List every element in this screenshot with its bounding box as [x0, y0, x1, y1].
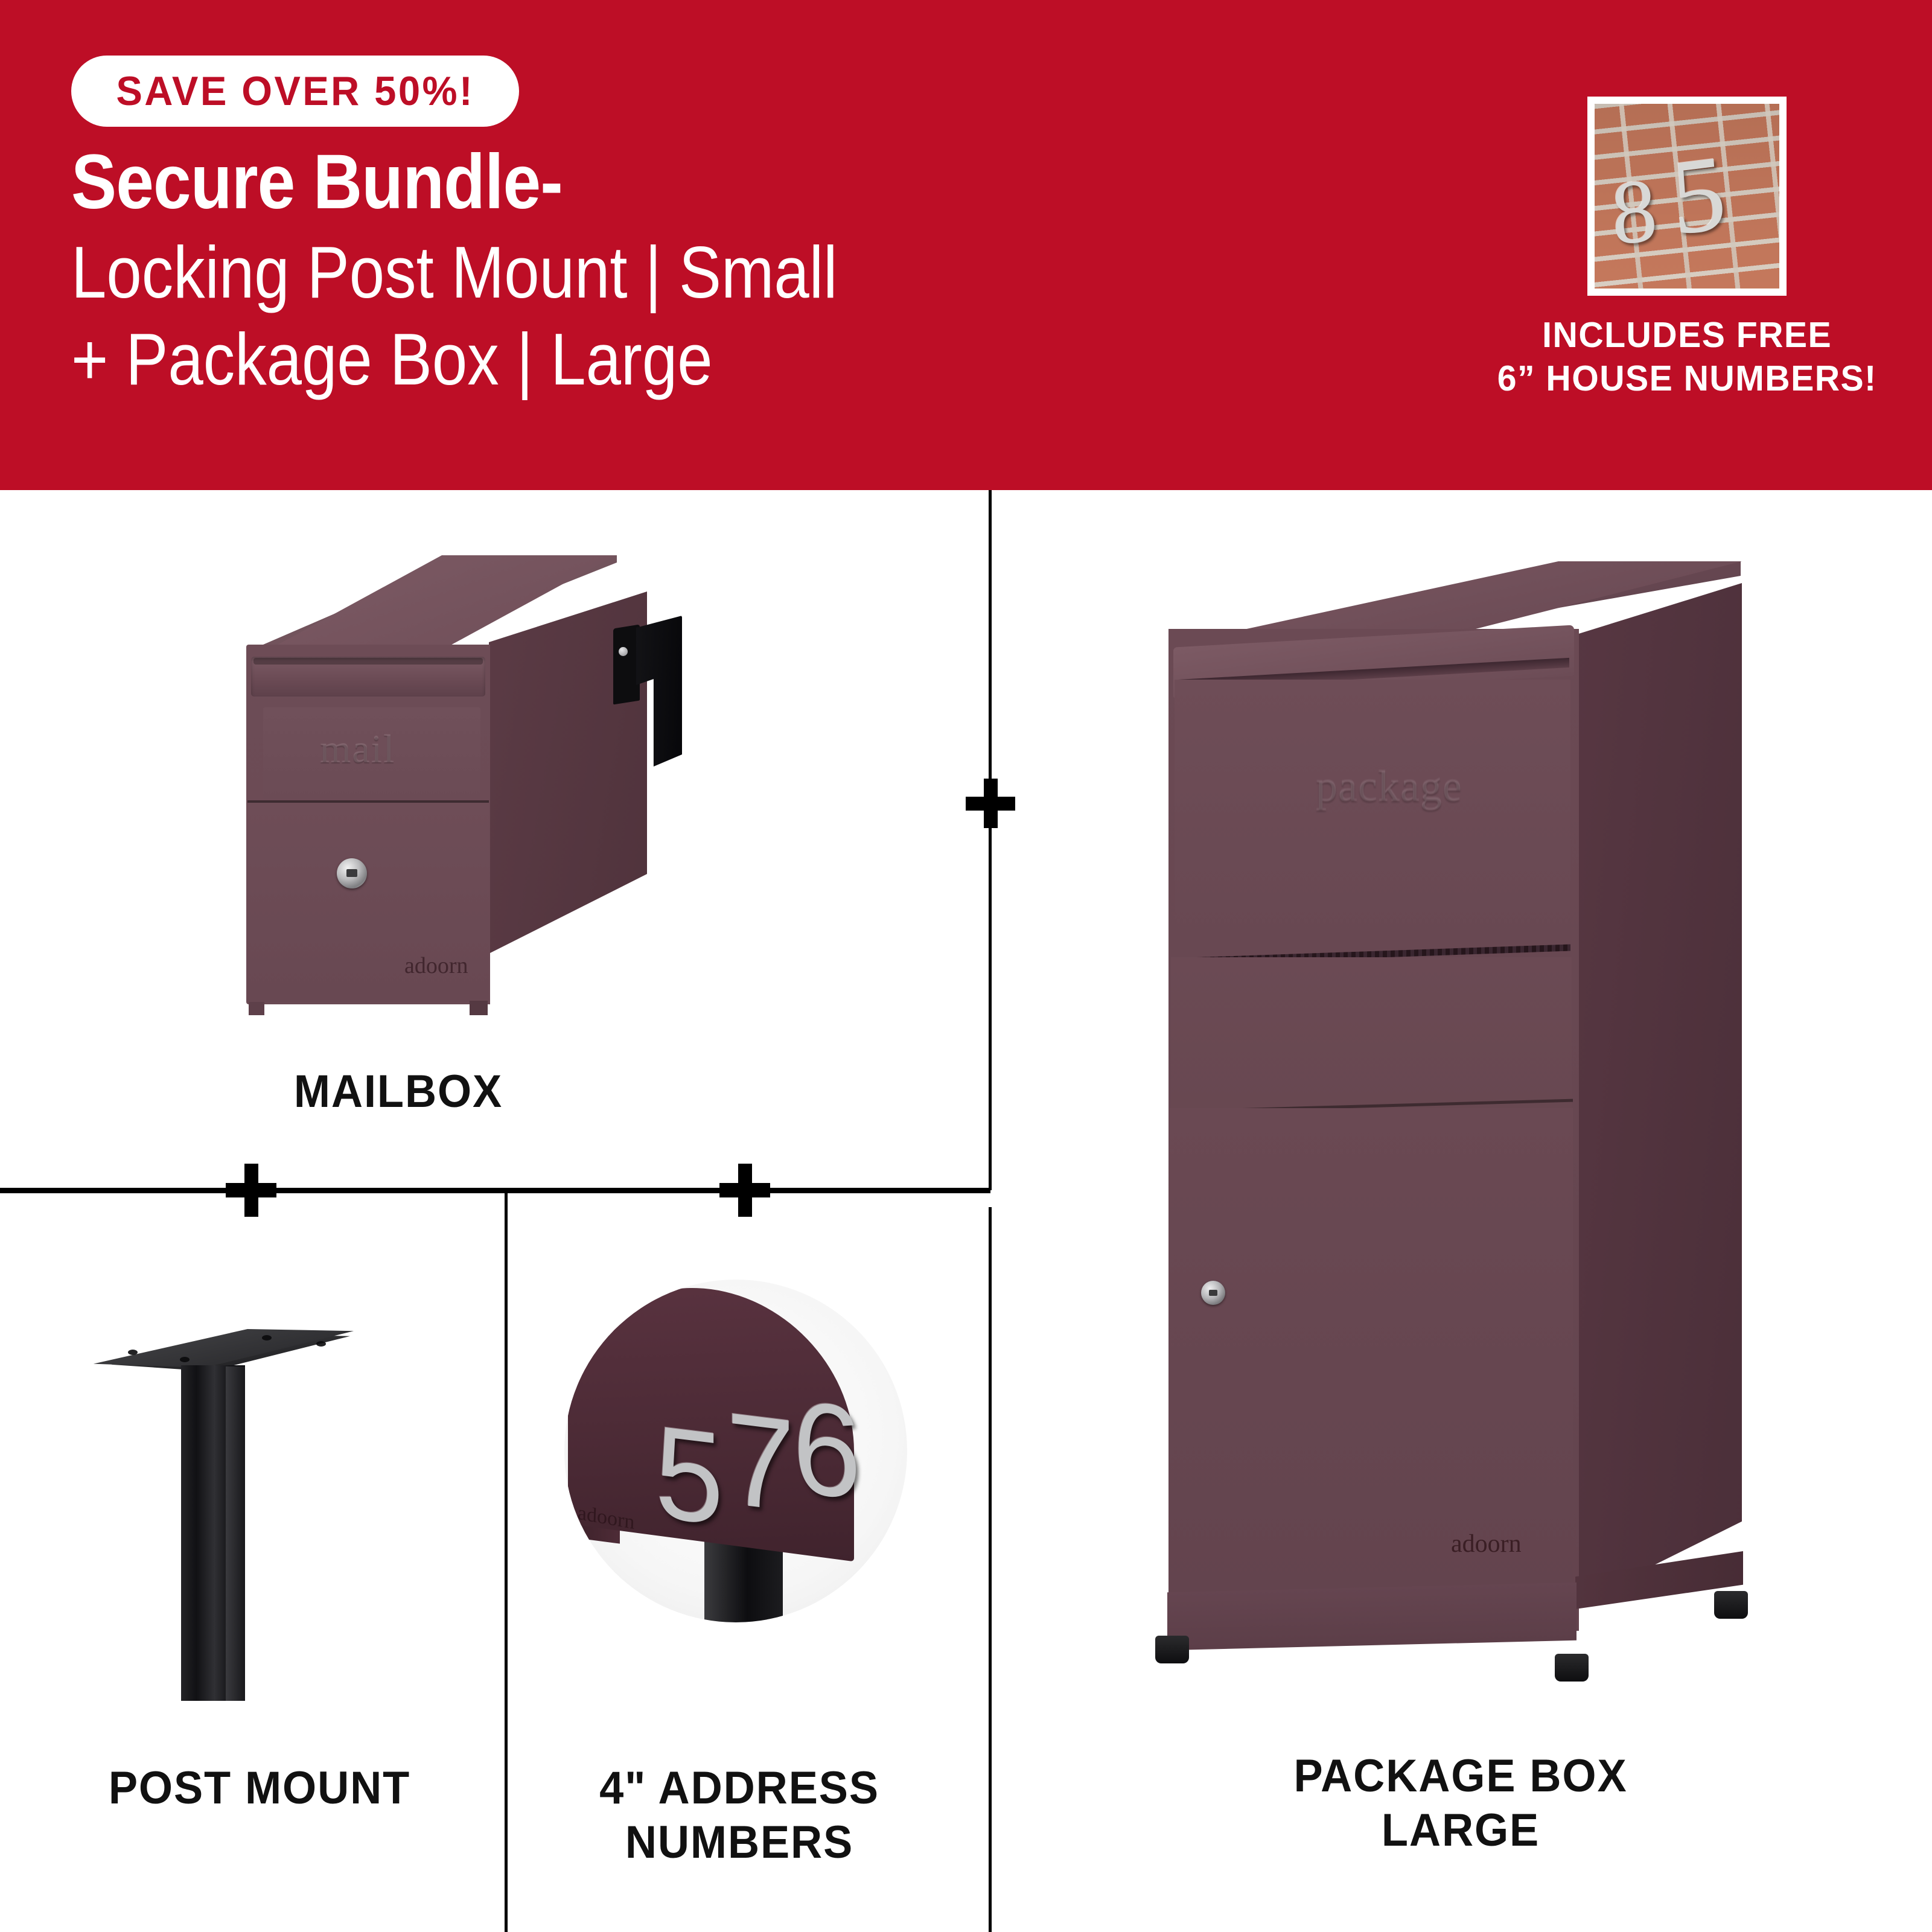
- post-mount-mounting-plate: [88, 1329, 354, 1368]
- house-number-digit: 5: [1668, 138, 1729, 252]
- product-label-line-2: LARGE: [1048, 1803, 1873, 1858]
- package-box-base-front: [1167, 1583, 1577, 1651]
- lock-icon: [1201, 1281, 1225, 1305]
- title-line-tertiary: + Package Box | Large: [71, 316, 1141, 403]
- promo-caption: INCLUDES FREE 6” HOUSE NUMBERS!: [1491, 314, 1883, 401]
- product-label-line-1: PACKAGE BOX: [1048, 1749, 1873, 1803]
- product-label-package-box: PACKAGE BOX LARGE: [1048, 1749, 1873, 1857]
- package-box-mid-panel: [1171, 957, 1572, 1108]
- mailbox-product-image: mail adoorn: [229, 555, 730, 1032]
- product-label-line-2: NUMBERS: [521, 1816, 957, 1870]
- promo-caption-line-2: 6” HOUSE NUMBERS!: [1497, 357, 1877, 401]
- house-number-photo-frame: 8 5: [1587, 97, 1787, 296]
- plus-icon: [719, 1164, 770, 1217]
- mailbox-foot: [470, 1001, 488, 1015]
- promo-header-banner: SAVE OVER 50%! Secure Bundle- Locking Po…: [0, 0, 1932, 490]
- screw-icon: [619, 647, 628, 656]
- bolt-hole-icon: [262, 1335, 272, 1341]
- lock-icon: [337, 858, 367, 888]
- bolt-hole-icon: [128, 1350, 138, 1355]
- address-numbers-product-image: 5 7 6 adoorn: [564, 1280, 914, 1630]
- post-mount-product-image: [91, 1316, 429, 1702]
- package-box-main-door: [1170, 1108, 1573, 1591]
- bolt-hole-icon: [316, 1341, 326, 1347]
- product-label-mailbox: MAILBOX: [180, 1065, 616, 1119]
- package-box-foot: [1555, 1654, 1589, 1682]
- divider-vertical-main-lower: [989, 1207, 992, 1932]
- package-box-upper-panel: [1175, 680, 1570, 951]
- bolt-hole-icon: [180, 1357, 190, 1362]
- plus-icon-bar-vertical: [738, 1164, 752, 1217]
- address-digit: 5: [655, 1406, 724, 1545]
- title-line-primary: Secure Bundle-: [71, 144, 1165, 221]
- save-badge-label: SAVE OVER 50%!: [116, 68, 474, 115]
- save-discount-badge: SAVE OVER 50%!: [71, 56, 519, 127]
- brick-wall-photo: 8 5: [1595, 104, 1779, 289]
- plus-icon: [226, 1164, 276, 1217]
- plus-icon-bar-vertical: [984, 779, 998, 828]
- package-box-side-panel: [1578, 583, 1742, 1603]
- mailbox-mail-slot-opening: [253, 658, 483, 665]
- divider-horizontal-segment: [759, 1188, 990, 1193]
- brand-logo: adoorn: [404, 952, 519, 979]
- divider-horizontal-segment: [0, 1188, 235, 1193]
- brand-logo: adoorn: [1451, 1529, 1572, 1558]
- package-box-foot: [1155, 1636, 1189, 1663]
- address-digit: 6: [792, 1380, 861, 1520]
- promo-caption-line-1: INCLUDES FREE: [1497, 314, 1877, 357]
- free-house-numbers-promo: 8 5 INCLUDES FREE 6” HOUSE NUMBERS!: [1506, 97, 1868, 401]
- title-line-secondary: Locking Post Mount | Small: [71, 229, 1141, 316]
- plus-icon: [966, 779, 1015, 828]
- page-title: Secure Bundle- Locking Post Mount | Smal…: [71, 144, 1315, 403]
- product-label-post-mount: POST MOUNT: [48, 1761, 472, 1816]
- divider-horizontal-segment: [266, 1188, 732, 1193]
- package-box-product-image: package adoorn: [1123, 561, 1793, 1708]
- house-number-digit: 8: [1608, 164, 1660, 260]
- mailbox-embossed-label: mail: [320, 725, 477, 774]
- address-numbers-circle-inset: 5 7 6 adoorn: [564, 1280, 907, 1622]
- package-box-embossed-label: package: [1316, 760, 1557, 812]
- product-label-line-1: 4" ADDRESS: [521, 1761, 957, 1816]
- mailbox-foot: [249, 1002, 264, 1015]
- address-digit: 7: [726, 1392, 795, 1532]
- divider-vertical-sub: [505, 1190, 508, 1932]
- product-label-address-numbers: 4" ADDRESS NUMBERS: [521, 1761, 957, 1869]
- post-mount-column-edge: [226, 1366, 245, 1701]
- plus-icon-bar-vertical: [244, 1164, 258, 1217]
- package-box-foot: [1714, 1591, 1748, 1619]
- mailbox-flag-bracket: [613, 625, 640, 705]
- divider-vertical-main: [989, 490, 992, 1190]
